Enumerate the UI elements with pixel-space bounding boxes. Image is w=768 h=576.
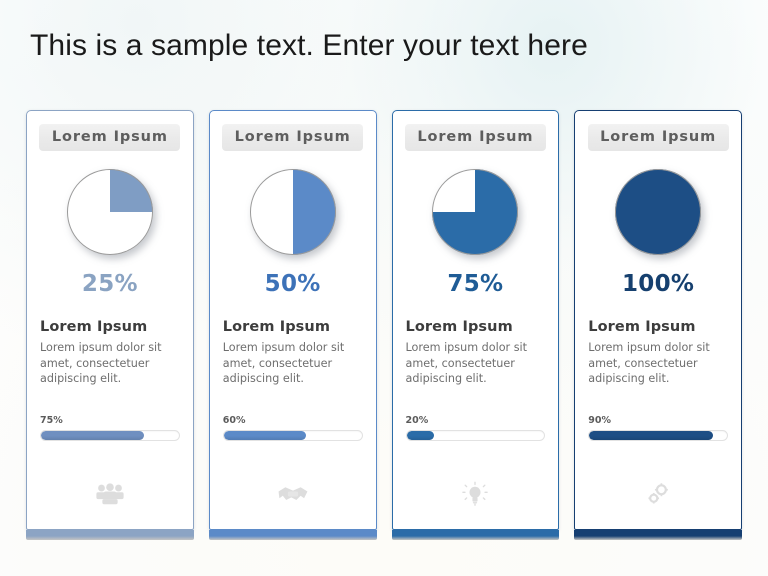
card-2-pie-chart (250, 169, 336, 255)
card-1-pie-chart (67, 169, 153, 255)
card-1[interactable]: Lorem Ipsum 25% Lorem Ipsum Lorem ipsum … (26, 110, 194, 530)
card-3-pie-chart (432, 169, 518, 255)
card-3-progress-fill (407, 431, 435, 440)
card-1-pie-slice (67, 169, 153, 255)
card-3-percent-value: 75% (447, 271, 503, 297)
card-3-body-text: Lorem ipsum dolor sit amet, consectetuer… (406, 340, 546, 387)
card-4-progress-fill (589, 431, 713, 440)
card-1-badge: Lorem Ipsum (39, 124, 180, 151)
card-4-progress: 90% (574, 415, 742, 441)
card-4-text-block: Lorem Ipsum Lorem ipsum dolor sit amet, … (574, 319, 742, 387)
card-3-progress: 20% (392, 415, 560, 441)
card-4-progress-label: 90% (588, 415, 728, 426)
card-1-progress: 75% (26, 415, 194, 441)
lightbulb-icon (458, 480, 492, 508)
card-2-progress-fill (224, 431, 307, 440)
card-2-badge: Lorem Ipsum (222, 124, 363, 151)
card-2-progress-track[interactable] (223, 430, 363, 441)
card-3[interactable]: Lorem Ipsum 75% Lorem Ipsum Lorem ipsum … (392, 110, 560, 530)
card-3-pie-slice (432, 169, 518, 255)
card-2-accent-bar (209, 530, 377, 540)
card-2-heading: Lorem Ipsum (223, 319, 363, 335)
card-4[interactable]: Lorem Ipsum 100% Lorem Ipsum Lorem ipsum… (574, 110, 742, 530)
card-3-text-block: Lorem Ipsum Lorem ipsum dolor sit amet, … (392, 319, 560, 387)
card-2-progress-label: 60% (223, 415, 363, 426)
card-3-progress-track[interactable] (406, 430, 546, 441)
gears-icon (641, 480, 675, 508)
card-2-percent-value: 50% (265, 271, 321, 297)
card-4-pie-chart (615, 169, 701, 255)
card-2-body-text: Lorem ipsum dolor sit amet, consectetuer… (223, 340, 363, 387)
card-2-pie-slice (250, 169, 336, 255)
card-1-percent-value: 25% (82, 271, 138, 297)
card-3-progress-label: 20% (406, 415, 546, 426)
card-row: Lorem Ipsum 25% Lorem Ipsum Lorem ipsum … (26, 110, 742, 530)
card-1-text-block: Lorem Ipsum Lorem ipsum dolor sit amet, … (26, 319, 194, 387)
card-1-body-text: Lorem ipsum dolor sit amet, consectetuer… (40, 340, 180, 387)
card-2[interactable]: Lorem Ipsum 50% Lorem Ipsum Lorem ipsum … (209, 110, 377, 530)
card-1-accent-bar (26, 530, 194, 540)
card-4-badge: Lorem Ipsum (588, 124, 729, 151)
card-1-progress-label: 75% (40, 415, 180, 426)
handshake-icon (276, 480, 310, 508)
card-4-body-text: Lorem ipsum dolor sit amet, consectetuer… (588, 340, 728, 387)
card-4-pie-slice (615, 169, 701, 255)
card-4-progress-track[interactable] (588, 430, 728, 441)
slide-canvas: This is a sample text. Enter your text h… (0, 0, 768, 576)
card-4-heading: Lorem Ipsum (588, 319, 728, 335)
card-2-text-block: Lorem Ipsum Lorem ipsum dolor sit amet, … (209, 319, 377, 387)
card-2-progress: 60% (209, 415, 377, 441)
card-1-progress-fill (41, 431, 144, 440)
card-1-progress-track[interactable] (40, 430, 180, 441)
card-3-badge: Lorem Ipsum (405, 124, 546, 151)
card-3-heading: Lorem Ipsum (406, 319, 546, 335)
card-1-heading: Lorem Ipsum (40, 319, 180, 335)
card-3-accent-bar (392, 530, 560, 540)
card-4-accent-bar (574, 530, 742, 540)
page-title: This is a sample text. Enter your text h… (30, 26, 588, 66)
people-icon (93, 480, 127, 508)
card-4-percent-value: 100% (622, 271, 694, 297)
